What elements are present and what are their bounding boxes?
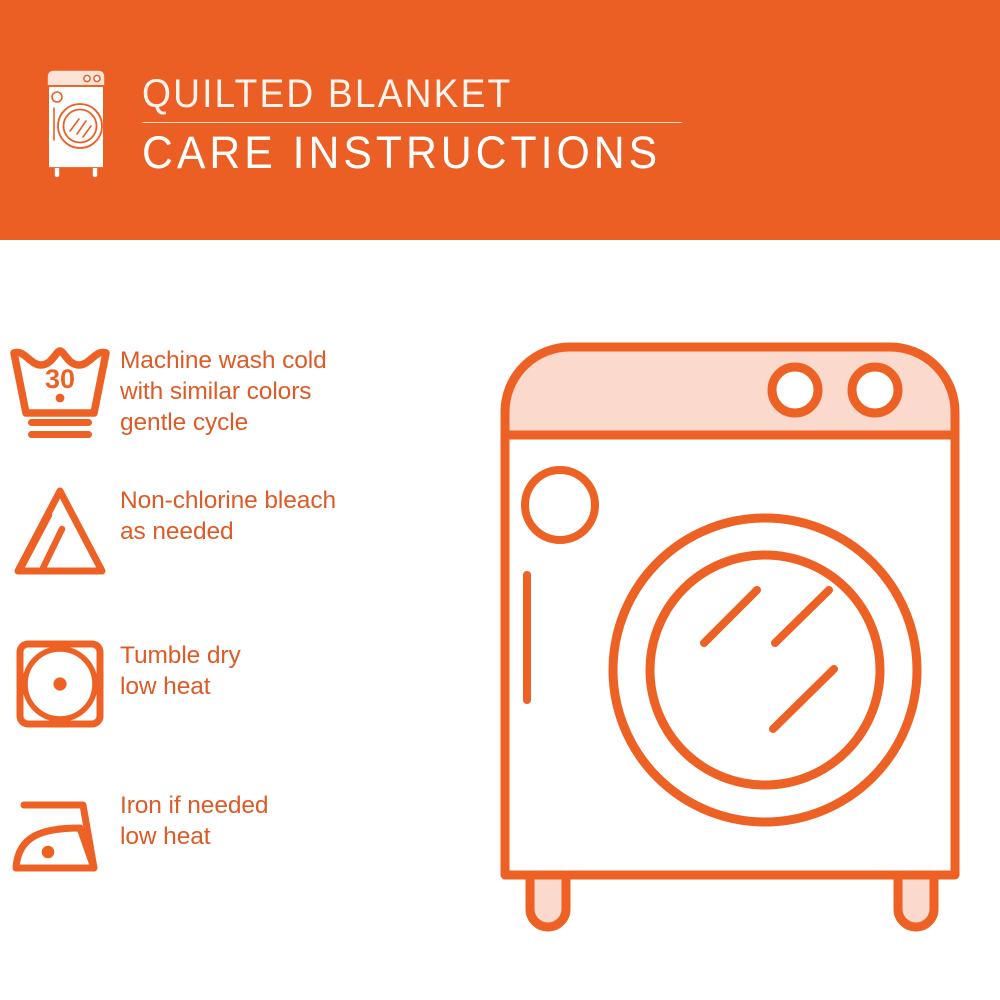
- care-item-bleach: Non-chlorine bleach as needed: [0, 483, 470, 583]
- tumble-dry-icon: [0, 638, 120, 738]
- header-banner: QUILTED BLANKET CARE INSTRUCTIONS: [0, 0, 1000, 240]
- washing-machine-icon: [43, 66, 109, 180]
- care-instruction-list: 30 Machine wash cold with similar colors…: [0, 240, 490, 1000]
- care-item-iron: Iron if needed low heat: [0, 788, 470, 888]
- knob-left: [772, 367, 818, 413]
- header-title-block: QUILTED BLANKET CARE INSTRUCTIONS: [142, 72, 742, 178]
- knob-right: [852, 367, 898, 413]
- care-item-label: Tumble dry low heat: [120, 638, 241, 702]
- wash-temperature-value: 30: [45, 364, 75, 394]
- bleach-triangle-icon: [0, 483, 120, 583]
- care-item-machine-wash: 30 Machine wash cold with similar colors…: [0, 343, 470, 443]
- detergent-dial: [525, 470, 595, 540]
- page-title-secondary: CARE INSTRUCTIONS: [142, 128, 712, 178]
- iron-icon: [0, 788, 120, 888]
- wash-tub-icon: 30: [0, 343, 120, 443]
- door-outer-ring: [613, 518, 917, 822]
- care-item-label: Machine wash cold with similar colors ge…: [120, 343, 327, 438]
- title-divider: [142, 122, 682, 123]
- care-item-label: Non-chlorine bleach as needed: [120, 483, 336, 547]
- care-item-tumble-dry: Tumble dry low heat: [0, 638, 470, 738]
- leg-left: [530, 875, 566, 927]
- front-load-washing-machine-illustration: [485, 325, 985, 945]
- page-title-primary: QUILTED BLANKET: [142, 72, 700, 116]
- care-item-label: Iron if needed low heat: [120, 788, 268, 852]
- leg-right: [898, 875, 934, 927]
